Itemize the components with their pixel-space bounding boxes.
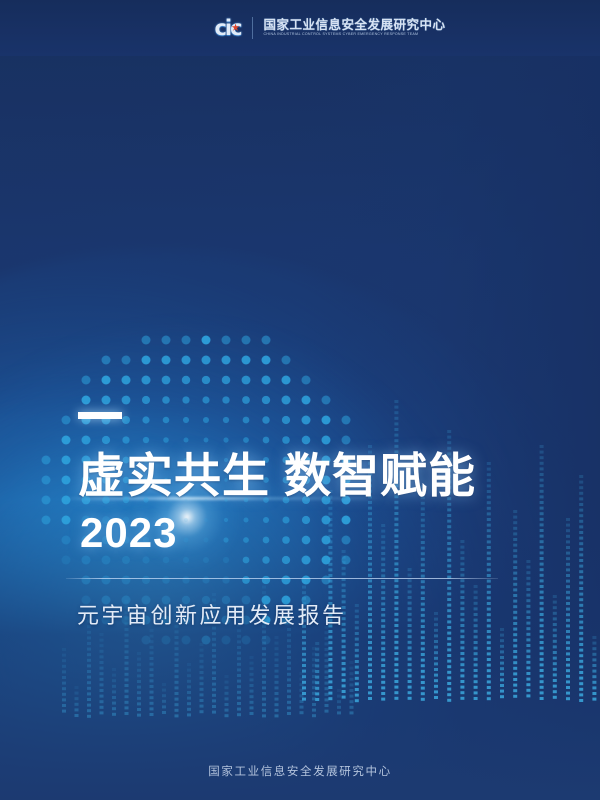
title-rule-mark <box>78 412 122 419</box>
report-cover-page: cic 国家工业信息安全发展研究中心 CHINA INDUSTRIAL CONT… <box>0 0 600 800</box>
footer: 国家工业信息安全发展研究中心 <box>0 762 600 780</box>
logo-organization-name-cn: 国家工业信息安全发展研究中心 <box>264 19 446 32</box>
logo-organization-name-en: CHINA INDUSTRIAL CONTROL SYSTEMS CYBER E… <box>264 33 446 37</box>
title-divider <box>66 578 498 579</box>
cover-year: 2023 <box>80 512 177 554</box>
footer-publisher: 国家工业信息安全发展研究中心 <box>208 766 391 778</box>
header-bar: cic 国家工业信息安全发展研究中心 CHINA INDUSTRIAL CONT… <box>0 0 600 56</box>
logo-divider <box>252 17 253 39</box>
organization-logo: cic 国家工业信息安全发展研究中心 CHINA INDUSTRIAL CONT… <box>214 17 445 39</box>
cover-subtitle: 元宇宙创新应用发展报告 <box>77 605 347 627</box>
cic-logo-mark: cic <box>214 18 240 39</box>
cover-title: 虚实共生 数智赋能 <box>78 452 476 499</box>
